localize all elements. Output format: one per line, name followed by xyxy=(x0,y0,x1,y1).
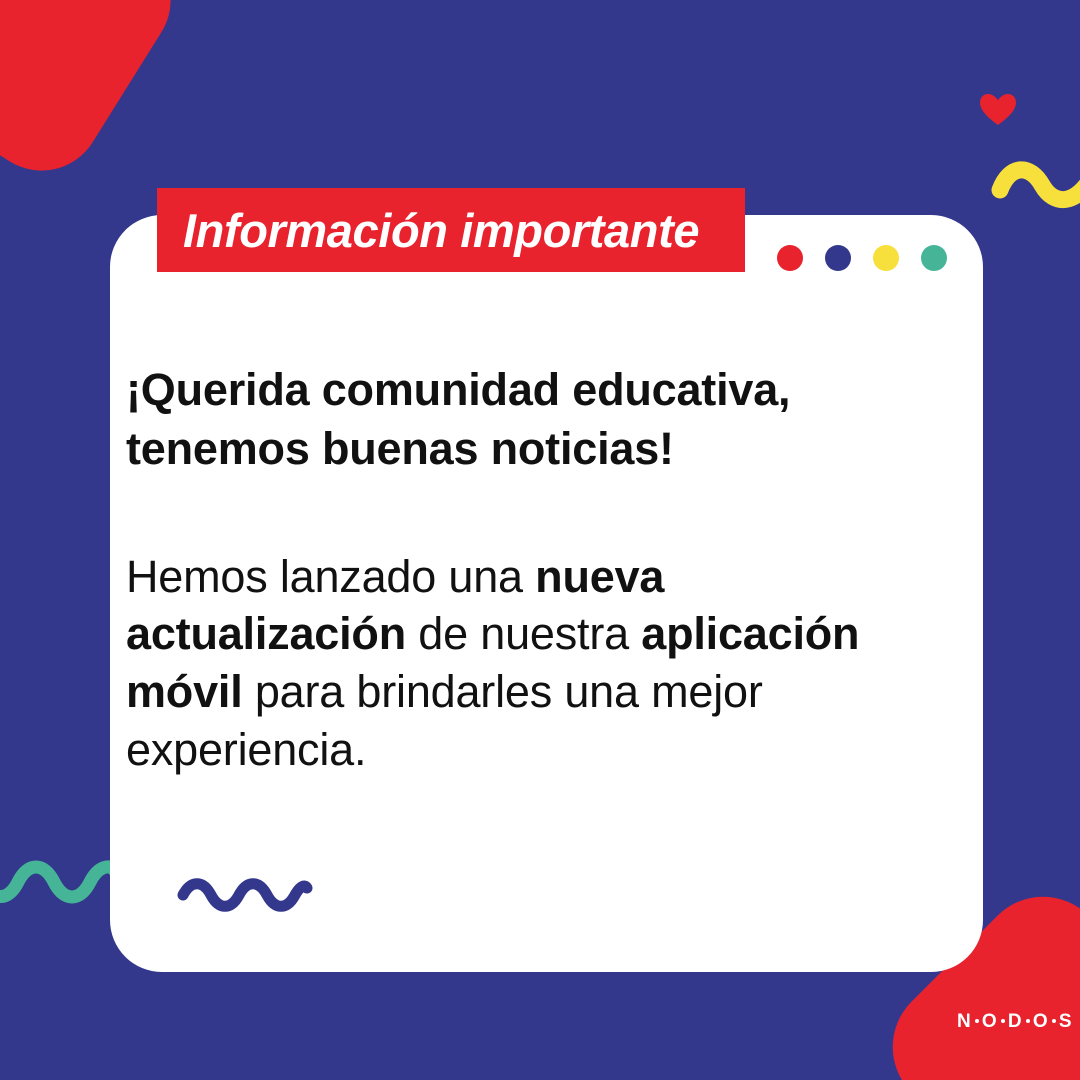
brand-logo: NODOS xyxy=(957,1011,1073,1033)
squiggle-yellow-icon xyxy=(996,156,1080,214)
body-paragraph: Hemos lanzado una nueva actualización de… xyxy=(126,479,906,778)
logo-letter: N xyxy=(957,1011,972,1033)
plain-text: Hemos lanzado una xyxy=(126,551,535,602)
banner-title: Información importante xyxy=(183,207,699,254)
logo-letter: D xyxy=(1008,1011,1023,1033)
banner-important-info: Información importante xyxy=(157,188,745,272)
plain-text: de nuestra xyxy=(406,608,641,659)
window-dot-teal[interactable] xyxy=(921,245,947,271)
window-dot-navy[interactable] xyxy=(825,245,851,271)
squiggle-teal-icon xyxy=(0,858,114,914)
headline: ¡Querida comunidad educativa, tenemos bu… xyxy=(126,360,906,479)
heart-icon xyxy=(980,94,1016,126)
card-body: ¡Querida comunidad educativa, tenemos bu… xyxy=(126,360,906,778)
window-dot-yellow[interactable] xyxy=(873,245,899,271)
logo-separator-dot xyxy=(1052,1019,1056,1023)
rounded-square-top-left-decoration xyxy=(0,0,193,193)
logo-letter: S xyxy=(1059,1011,1073,1033)
window-dots xyxy=(777,245,947,271)
logo-separator-dot xyxy=(1026,1019,1030,1023)
logo-separator-dot xyxy=(1001,1019,1005,1023)
window-dot-red[interactable] xyxy=(777,245,803,271)
logo-letter: O xyxy=(1033,1011,1049,1033)
poster-canvas: Información importante ¡Querida comunida… xyxy=(0,0,1080,1080)
logo-letter: O xyxy=(982,1011,998,1033)
logo-separator-dot xyxy=(975,1019,979,1023)
